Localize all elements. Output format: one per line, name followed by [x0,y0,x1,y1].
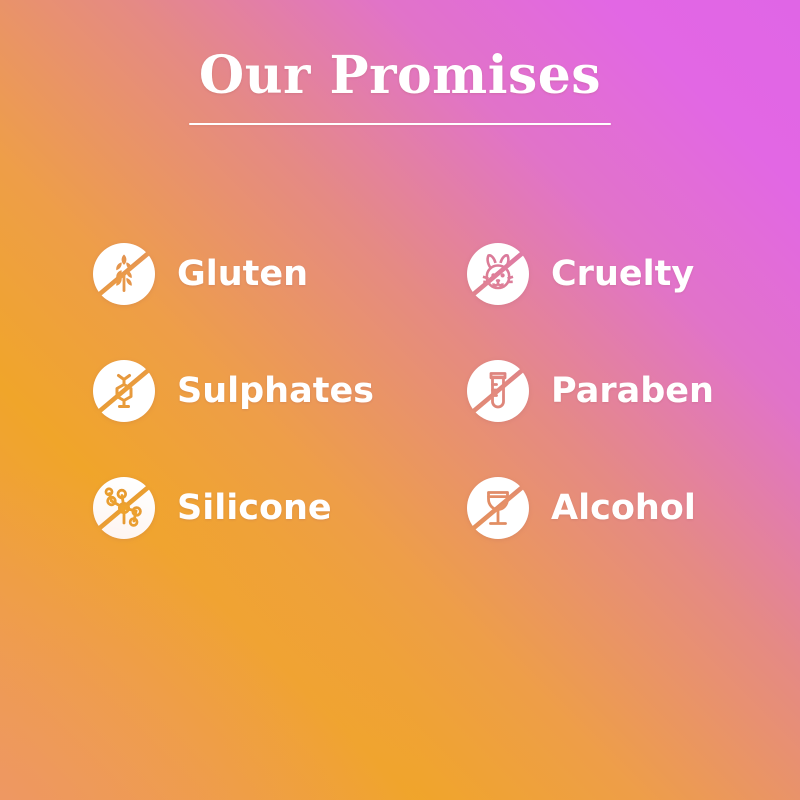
promise-item-gluten[interactable]: Gluten [93,243,374,305]
promise-label: Alcohol [551,488,696,528]
promise-item-silicone[interactable]: Silicone [93,477,374,539]
promise-label: Sulphates [177,371,374,411]
promise-label: Silicone [177,488,332,528]
promise-label: Cruelty [551,254,694,294]
promise-label: Gluten [177,254,308,294]
no-paraben-test-tube-icon [467,360,529,422]
promise-label: Paraben [551,371,714,411]
no-alcohol-wine-glass-icon [467,477,529,539]
promises-column-left: Gluten [93,243,374,539]
page-title: Our Promises [0,46,800,106]
no-gluten-wheat-icon [93,243,155,305]
header: Our Promises [0,46,800,125]
title-underline-divider [189,123,611,125]
no-cruelty-rabbit-icon [467,243,529,305]
promise-item-paraben[interactable]: Paraben [467,360,714,422]
no-sulphates-molecule-icon [93,360,155,422]
promise-item-sulphates[interactable]: Sulphates [93,360,374,422]
promise-item-cruelty[interactable]: Cruelty [467,243,714,305]
promises-column-right: Cruelty [467,243,714,539]
no-silicone-molecule-icon [93,477,155,539]
promises-banner: Our Promises [0,0,800,800]
promise-item-alcohol[interactable]: Alcohol [467,477,714,539]
